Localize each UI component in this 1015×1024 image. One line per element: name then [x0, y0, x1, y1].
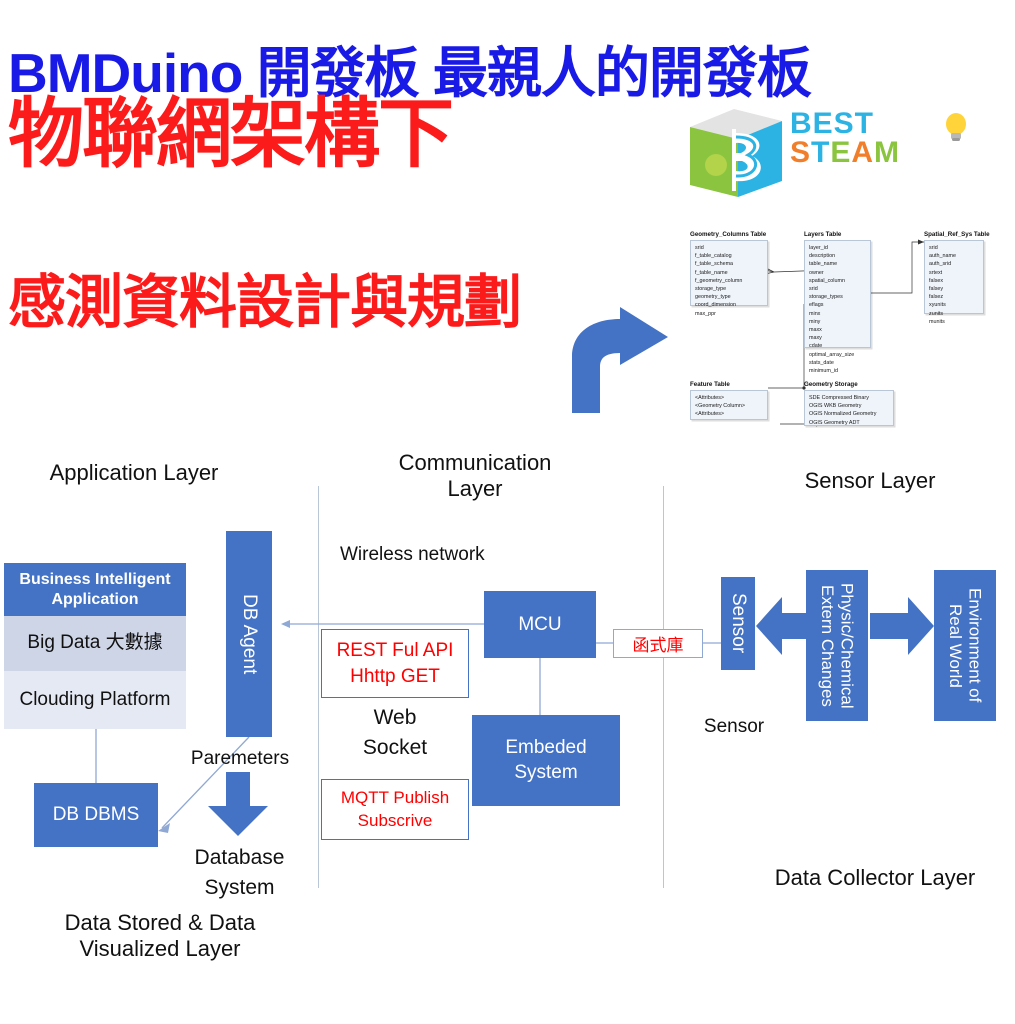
er-table-title: Geometry_Columns Table: [690, 230, 766, 239]
arrowhead-db-dbms: [158, 823, 170, 833]
er-table-title: Geometry Storage: [804, 380, 858, 389]
down-arrow-icon: [206, 772, 270, 843]
sensor-box[interactable]: Sensor: [721, 577, 755, 670]
er-table-title: Feature Table: [690, 380, 730, 389]
divider-app-comm: [318, 486, 319, 888]
label-data-collector-layer: Data Collector Layer: [740, 865, 1010, 891]
er-table-title: Spatial_Ref_Sys Table: [924, 230, 990, 239]
physic-chemical-changes-box[interactable]: Physic/Chemical Extern Changes: [806, 570, 868, 721]
label-sensor-layer: Sensor Layer: [765, 468, 975, 494]
label-sensor-caption: Sensor: [672, 716, 796, 738]
big-data-box[interactable]: Big Data 大數據: [4, 616, 186, 671]
curved-arrow-icon: [560, 305, 680, 420]
best-steam-logo: BEST STEAM: [686, 105, 996, 200]
er-table-geometry-storage: SDE Compressed Binary OGIS WKB Geometry …: [804, 390, 894, 426]
db-agent-box[interactable]: DB Agent: [226, 531, 272, 737]
embedded-system-box[interactable]: Embeded System: [472, 715, 620, 806]
er-table-title: Layers Table: [804, 230, 841, 239]
label-wireless-network: Wireless network: [340, 540, 490, 569]
label-paremeters: Paremeters: [175, 748, 305, 770]
left-block-arrow-icon: [756, 595, 808, 662]
divider-comm-sensor: [663, 486, 664, 888]
logo-wordmark: BEST STEAM: [790, 109, 1000, 197]
mqtt-box[interactable]: MQTT Publish Subscrive: [321, 779, 469, 840]
label-communication-layer: Communication Layer: [375, 450, 575, 502]
library-function-box[interactable]: 函式庫: [613, 629, 703, 658]
page-title-red-line1: 物聯網架構下: [8, 95, 708, 175]
label-data-stored-layer: Data Stored & Data Visualized Layer: [40, 910, 280, 962]
label-web-socket: Web Socket: [340, 703, 450, 764]
er-diagram-thumbnail: Geometry_Columns Table srid f_table_cata…: [686, 228, 1011, 438]
arrowhead-db-agent: [281, 620, 290, 628]
er-table-feature: <Attributes> <Geometry Column> <Attribut…: [690, 390, 768, 420]
mcu-box[interactable]: MCU: [484, 591, 596, 658]
er-table-geometry-columns: srid f_table_catalog f_table_schema f_ta…: [690, 240, 768, 306]
er-table-layers: layer_id description table_name owner sp…: [804, 240, 871, 348]
cube-logo-icon: [686, 107, 786, 199]
lightbulb-icon: [943, 112, 969, 144]
db-dbms-box[interactable]: DB DBMS: [34, 783, 158, 847]
rest-api-box[interactable]: REST Ful API Hhttp GET: [321, 629, 469, 698]
clouding-platform-box[interactable]: Clouding Platform: [4, 671, 186, 729]
label-application-layer: Application Layer: [34, 460, 234, 486]
right-block-arrow-icon: [870, 595, 934, 662]
environment-real-world-box[interactable]: Environment of Real World: [934, 570, 996, 721]
er-table-spatial-ref-sys: srid auth_name auth_srid srtext falsex f…: [924, 240, 984, 314]
label-database-system: Database System: [182, 843, 297, 904]
business-intelligent-application-box[interactable]: Business Intelligent Application: [4, 563, 186, 616]
